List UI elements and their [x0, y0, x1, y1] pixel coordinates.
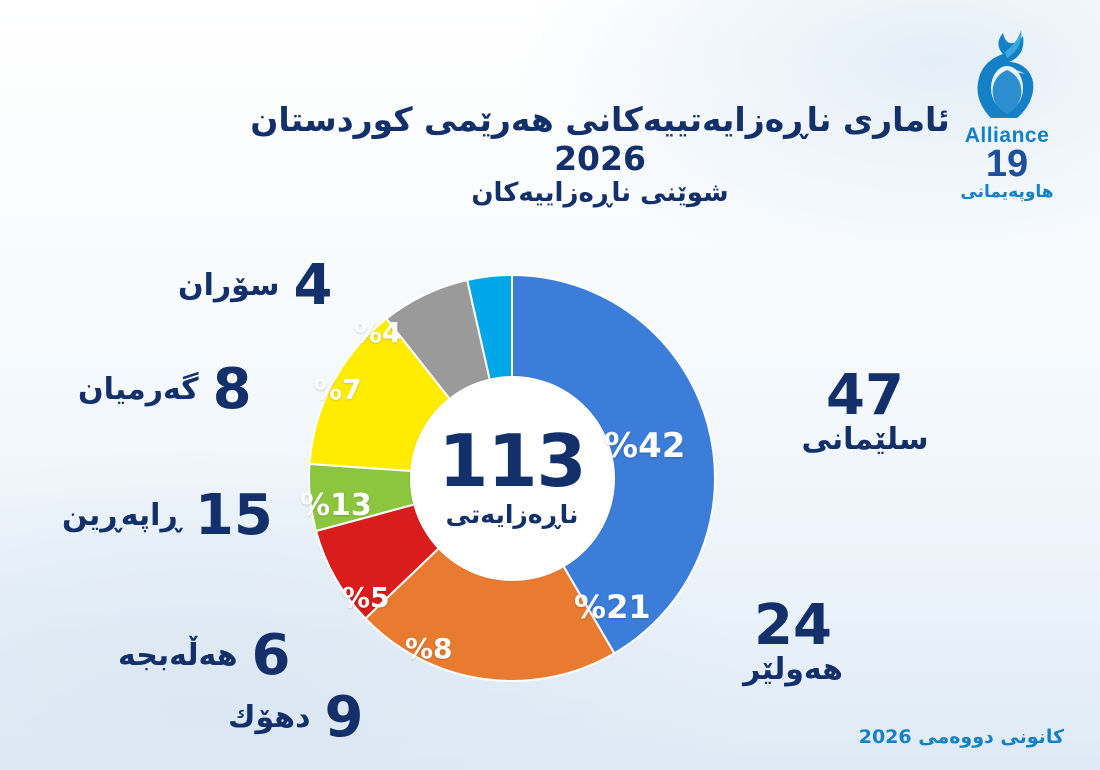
chart-subtitle: شوێنی ناڕەزاییەکان — [370, 178, 830, 208]
callout-name-raparin: ڕاپەڕین — [62, 500, 181, 532]
donut-chart: 113 ناڕەزایەتی %42 %21 %8 %5 %13 %7 %4 — [282, 248, 742, 708]
callout-raparin: 15 ڕاپەڕین — [62, 488, 273, 544]
footer-date: کانونی دووەمی 2026 — [859, 726, 1064, 748]
slice-percent-slemani: %42 — [604, 426, 685, 466]
logo-name-ku: هاوپەیمانی — [942, 182, 1072, 202]
donut-center: 113 ناڕەزایەتی — [410, 376, 615, 581]
callout-value-halabja: 6 — [252, 628, 291, 684]
callout-value-hawler: 24 — [718, 598, 868, 654]
callout-value-slemani: 47 — [790, 368, 940, 424]
slice-percent-hawler: %21 — [574, 588, 651, 626]
callout-hawler: 24 هەولێر — [718, 598, 868, 686]
callout-value-raparin: 15 — [195, 488, 273, 544]
slice-percent-soran: %4 — [354, 316, 402, 349]
total-label: ناڕەزایەتی — [446, 500, 579, 529]
slice-percent-raparin: %13 — [300, 488, 372, 523]
total-value: 113 — [438, 427, 585, 496]
callout-value-duhok: 9 — [325, 690, 364, 746]
dove-hand-icon — [961, 22, 1053, 122]
callout-name-hawler: هەولێر — [718, 654, 868, 686]
callout-value-garmian: 8 — [213, 362, 252, 418]
callout-halabja: 6 هەڵەبجە — [118, 628, 291, 684]
callout-duhok: 9 دهۆك — [228, 690, 363, 746]
callout-name-soran: سۆران — [178, 270, 279, 302]
callout-soran: 4 سۆران — [178, 258, 332, 314]
logo-number: 19 — [942, 146, 1072, 182]
page-title: ئاماری ناڕەزایەتییەکانی هەرێمی کوردستان … — [220, 100, 980, 178]
callout-garmian: 8 گەرمیان — [78, 362, 252, 418]
callout-name-duhok: دهۆك — [228, 702, 311, 734]
callout-slemani: 47 سلێمانی — [790, 368, 940, 456]
slice-percent-halabja: %5 — [342, 581, 390, 614]
alliance-19-logo: Alliance 19 هاوپەیمانی — [942, 22, 1072, 222]
slice-percent-garmian: %7 — [314, 373, 362, 406]
callout-value-soran: 4 — [293, 258, 332, 314]
slice-percent-duhok: %8 — [405, 632, 453, 665]
callout-name-halabja: هەڵەبجە — [118, 640, 238, 672]
callout-name-slemani: سلێمانی — [790, 424, 940, 456]
callout-name-garmian: گەرمیان — [78, 374, 199, 406]
